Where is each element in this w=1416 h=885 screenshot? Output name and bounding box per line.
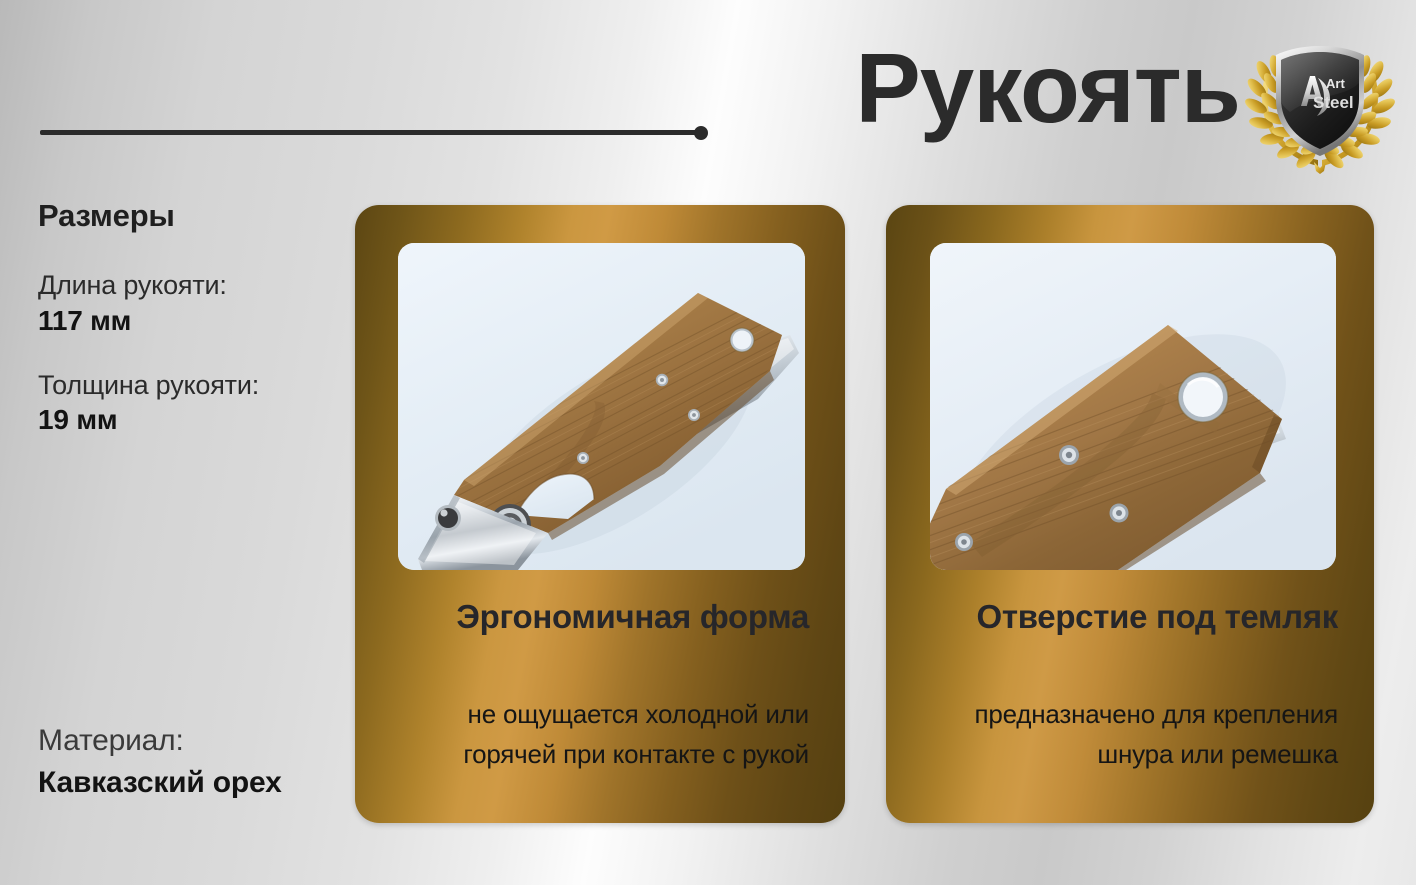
lanyard-hole <box>1178 372 1228 422</box>
title-rule-line <box>40 130 700 135</box>
card-title-lanyard: Отверстие под темляк <box>916 597 1338 637</box>
spec-label-length: Длина рукояти: <box>38 268 338 303</box>
dimensions-heading: Размеры <box>38 198 338 234</box>
card-description-lanyard: предназначено для крепления шнура или ре… <box>916 695 1338 774</box>
card-description-ergonomic: не ощущается холодной или горячей при ко… <box>385 695 809 774</box>
feature-card-lanyard-hole: Отверстие под темляк предназначено для к… <box>886 205 1374 823</box>
dimensions-section: Размеры Длина рукояти: 117 мм Толщина ру… <box>38 198 338 467</box>
material-label: Материал: <box>38 722 368 760</box>
art-steel-logo: Art Steel <box>1244 28 1396 180</box>
card-title-ergonomic: Эргономичная форма <box>385 597 809 637</box>
knife-handle-photo-full <box>398 243 805 570</box>
lanyard-hole <box>730 328 754 352</box>
logo-text-art: Art <box>1326 76 1345 91</box>
spec-item-length: Длина рукояти: 117 мм <box>38 268 338 340</box>
page-title: Рукоять <box>700 33 1240 143</box>
spec-value-thickness: 19 мм <box>38 402 338 439</box>
spec-label-thickness: Толщина рукояти: <box>38 368 338 403</box>
spec-item-thickness: Толщина рукояти: 19 мм <box>38 368 338 440</box>
material-value: Кавказский орех <box>38 763 368 803</box>
spec-value-length: 117 мм <box>38 303 338 340</box>
thumb-stud <box>435 505 461 531</box>
material-section: Материал: Кавказский орех <box>38 722 368 803</box>
knife-handle-photo-lanyard <box>930 243 1336 570</box>
feature-card-ergonomic-shape: Эргономичная форма не ощущается холодной… <box>355 205 845 823</box>
title-rule <box>40 124 714 140</box>
logo-text-steel: Steel <box>1313 93 1354 112</box>
